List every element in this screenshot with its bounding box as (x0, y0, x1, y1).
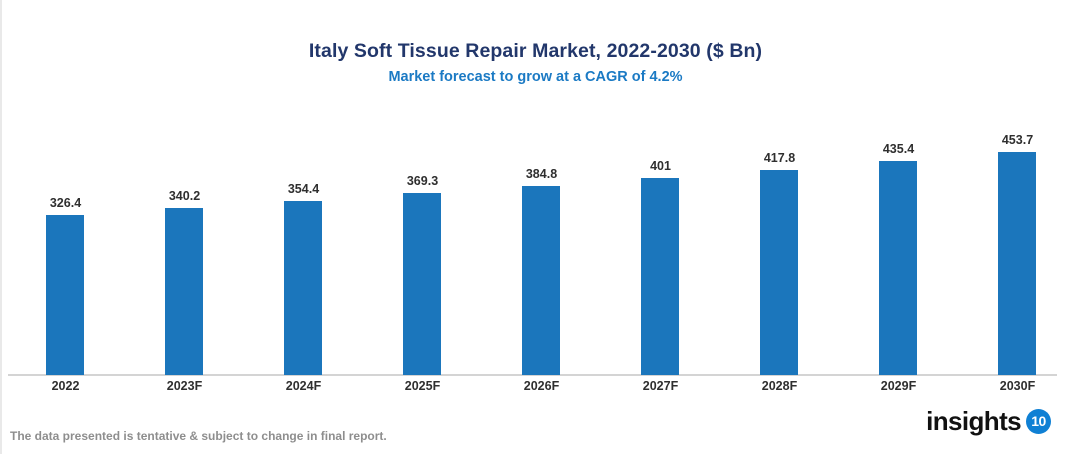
x-axis-tick-label: 2029F (839, 379, 958, 393)
bar[interactable] (998, 152, 1036, 375)
insights10-logo: insights 10 (926, 408, 1051, 434)
x-axis-tick-label: 2030F (958, 379, 1067, 393)
bar[interactable] (284, 201, 322, 375)
x-axis-tick-label: 2028F (720, 379, 839, 393)
bar-value-label: 369.3 (363, 174, 482, 188)
bar-group: 417.82028F (720, 0, 839, 454)
x-axis-tick-label: 2026F (482, 379, 601, 393)
x-axis-tick-label: 2027F (601, 379, 720, 393)
bar-value-label: 401 (601, 159, 720, 173)
logo-badge-icon: 10 (1026, 409, 1051, 434)
x-axis-tick-label: 2024F (244, 379, 363, 393)
bar[interactable] (879, 161, 917, 375)
bar[interactable] (46, 215, 84, 375)
bar-value-label: 326.4 (6, 196, 125, 210)
bar-value-label: 453.7 (958, 133, 1067, 147)
disclaimer-text: The data presented is tentative & subjec… (10, 429, 387, 443)
bar-group: 435.42029F (839, 0, 958, 454)
bar[interactable] (403, 193, 441, 375)
logo-wordmark: insights (926, 408, 1021, 434)
bar-group: 354.42024F (244, 0, 363, 454)
bar-group: 4012027F (601, 0, 720, 454)
bar[interactable] (165, 208, 203, 375)
x-axis-tick-label: 2025F (363, 379, 482, 393)
bar-value-label: 340.2 (125, 189, 244, 203)
bar-value-label: 384.8 (482, 167, 601, 181)
plot-area: 326.42022340.22023F354.42024F369.32025F3… (2, 0, 1067, 454)
x-axis-tick-label: 2022 (6, 379, 125, 393)
bar-value-label: 435.4 (839, 142, 958, 156)
bar-value-label: 354.4 (244, 182, 363, 196)
bar[interactable] (641, 178, 679, 375)
bar-group: 369.32025F (363, 0, 482, 454)
bar-group: 340.22023F (125, 0, 244, 454)
chart-page: Italy Soft Tissue Repair Market, 2022-20… (0, 0, 1067, 454)
x-axis-tick-label: 2023F (125, 379, 244, 393)
bar-value-label: 417.8 (720, 151, 839, 165)
bar-group: 453.72030F (958, 0, 1067, 454)
bar-group: 326.42022 (6, 0, 125, 454)
bar[interactable] (760, 170, 798, 375)
bar-group: 384.82026F (482, 0, 601, 454)
bar[interactable] (522, 186, 560, 375)
